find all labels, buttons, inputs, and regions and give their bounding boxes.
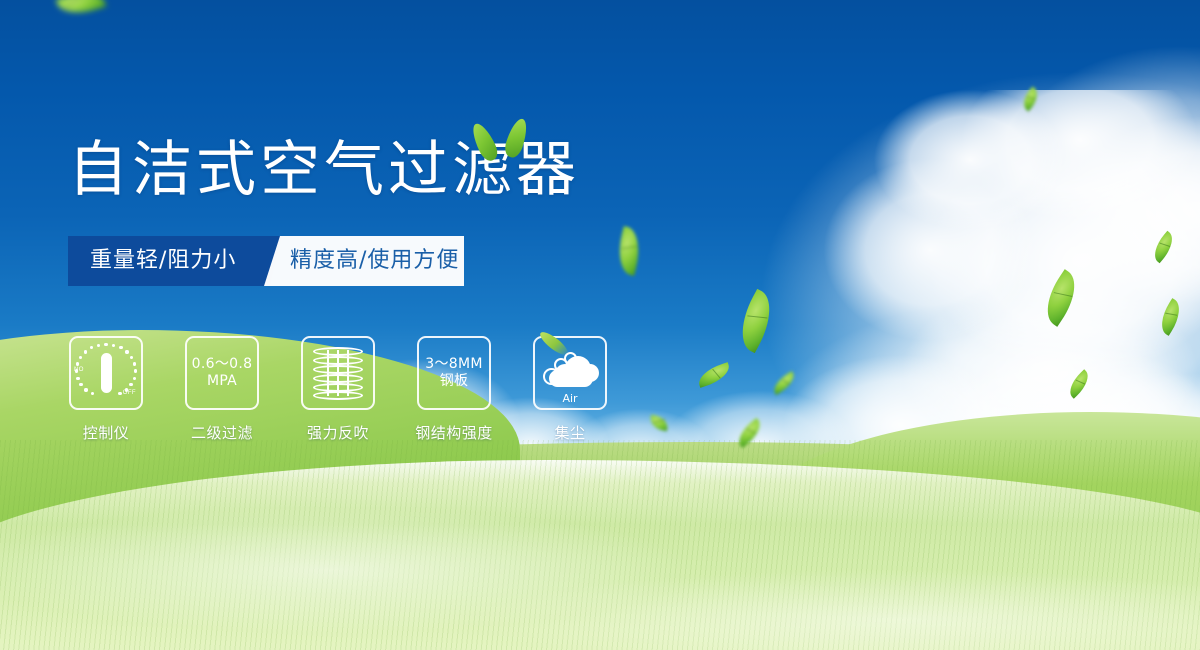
banner-content: 自洁式空气过滤器 重量轻/阻力小 精度高/使用方便 <box>0 0 1200 650</box>
subtitle-banner: 重量轻/阻力小 精度高/使用方便 <box>68 236 464 286</box>
steel-line-1: 3～8MM <box>425 356 482 372</box>
gauge-no-label: NO <box>74 367 84 373</box>
feature-icon-box: NO OFF <box>69 336 143 410</box>
feature-icon-box: 3～8MM 钢板 <box>417 336 491 410</box>
feature-label: 强力反吹 <box>307 422 369 443</box>
filter-stack-icon <box>310 345 366 401</box>
air-label: Air <box>539 392 601 405</box>
feature-item-steel-strength[interactable]: 3～8MM 钢板 钢结构强度 <box>416 336 492 443</box>
dust-particle-icon <box>564 352 577 365</box>
steel-line-2: 钢板 <box>425 373 482 390</box>
subtitle-left-text: 重量轻/阻力小 <box>90 236 236 286</box>
sprout-leaves-icon <box>470 112 540 166</box>
feature-item-blowback[interactable]: 强力反吹 <box>300 336 376 443</box>
feature-label: 集尘 <box>554 422 585 443</box>
pressure-line-2: MPA <box>192 373 253 390</box>
sprout-leaf-right-icon <box>502 116 531 159</box>
feature-item-controller[interactable]: NO OFF 控制仪 <box>68 336 144 443</box>
feature-label: 钢结构强度 <box>415 422 493 443</box>
feature-icon-box: Air <box>533 336 607 410</box>
pressure-line-1: 0.6～0.8 <box>192 356 253 372</box>
gauge-icon: NO OFF <box>74 341 138 405</box>
hero-banner: 自洁式空气过滤器 重量轻/阻力小 精度高/使用方便 <box>0 0 1200 650</box>
gauge-needle-icon <box>101 353 112 393</box>
feature-icon-box: 0.6～0.8 MPA <box>185 336 259 410</box>
subtitle-right-text: 精度高/使用方便 <box>290 236 459 286</box>
feature-icon-box <box>301 336 375 410</box>
pressure-text-icon: 0.6～0.8 MPA <box>192 356 253 390</box>
feature-item-two-stage-filter[interactable]: 0.6～0.8 MPA 二级过滤 <box>184 336 260 443</box>
steel-plate-text-icon: 3～8MM 钢板 <box>425 356 482 390</box>
air-cloud-icon: Air <box>539 344 601 402</box>
feature-label: 控制仪 <box>83 422 130 443</box>
gauge-off-label: OFF <box>123 390 136 396</box>
feature-label: 二级过滤 <box>191 422 253 443</box>
feature-list: NO OFF 控制仪 0.6～0.8 MPA 二级过滤 <box>68 336 608 443</box>
feature-item-dust-collection[interactable]: Air 集尘 <box>532 336 608 443</box>
sprout-leaf-left-icon <box>468 120 501 163</box>
